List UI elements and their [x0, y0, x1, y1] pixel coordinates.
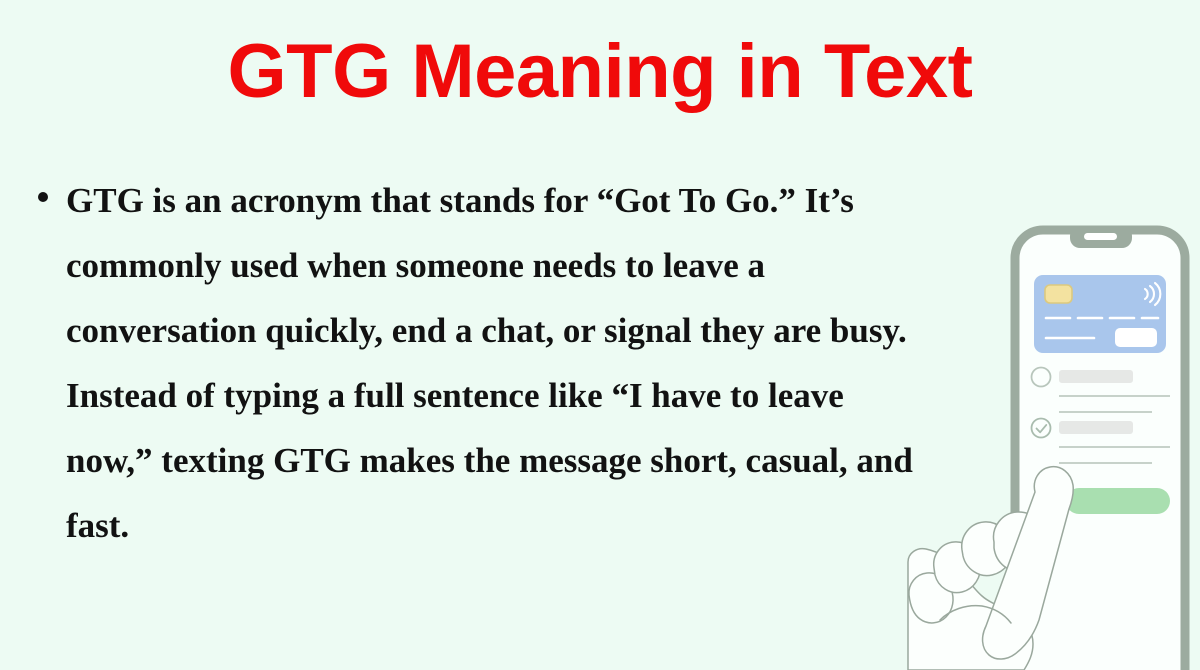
- placeholder-bar: [1059, 421, 1133, 434]
- credit-card[interactable]: [1034, 275, 1166, 353]
- body-bullet-list: GTG is an acronym that stands for “Got T…: [30, 168, 930, 558]
- pay-confirm-button[interactable]: [1066, 488, 1170, 514]
- card-brand-badge: [1115, 328, 1157, 347]
- card-chip-icon: [1045, 285, 1072, 303]
- page-title: GTG Meaning in Text: [0, 26, 1200, 118]
- bullet-marker-icon: [38, 192, 48, 202]
- list-item: GTG is an acronym that stands for “Got T…: [30, 168, 930, 558]
- list-item-text: GTG is an acronym that stands for “Got T…: [66, 181, 913, 545]
- phone-speaker-icon: [1084, 233, 1117, 240]
- placeholder-bar: [1059, 370, 1133, 383]
- slide-canvas: GTG Meaning in Text GTG is an acronym th…: [0, 0, 1200, 670]
- hand-tapping-phone-payment-illustration: [900, 190, 1200, 670]
